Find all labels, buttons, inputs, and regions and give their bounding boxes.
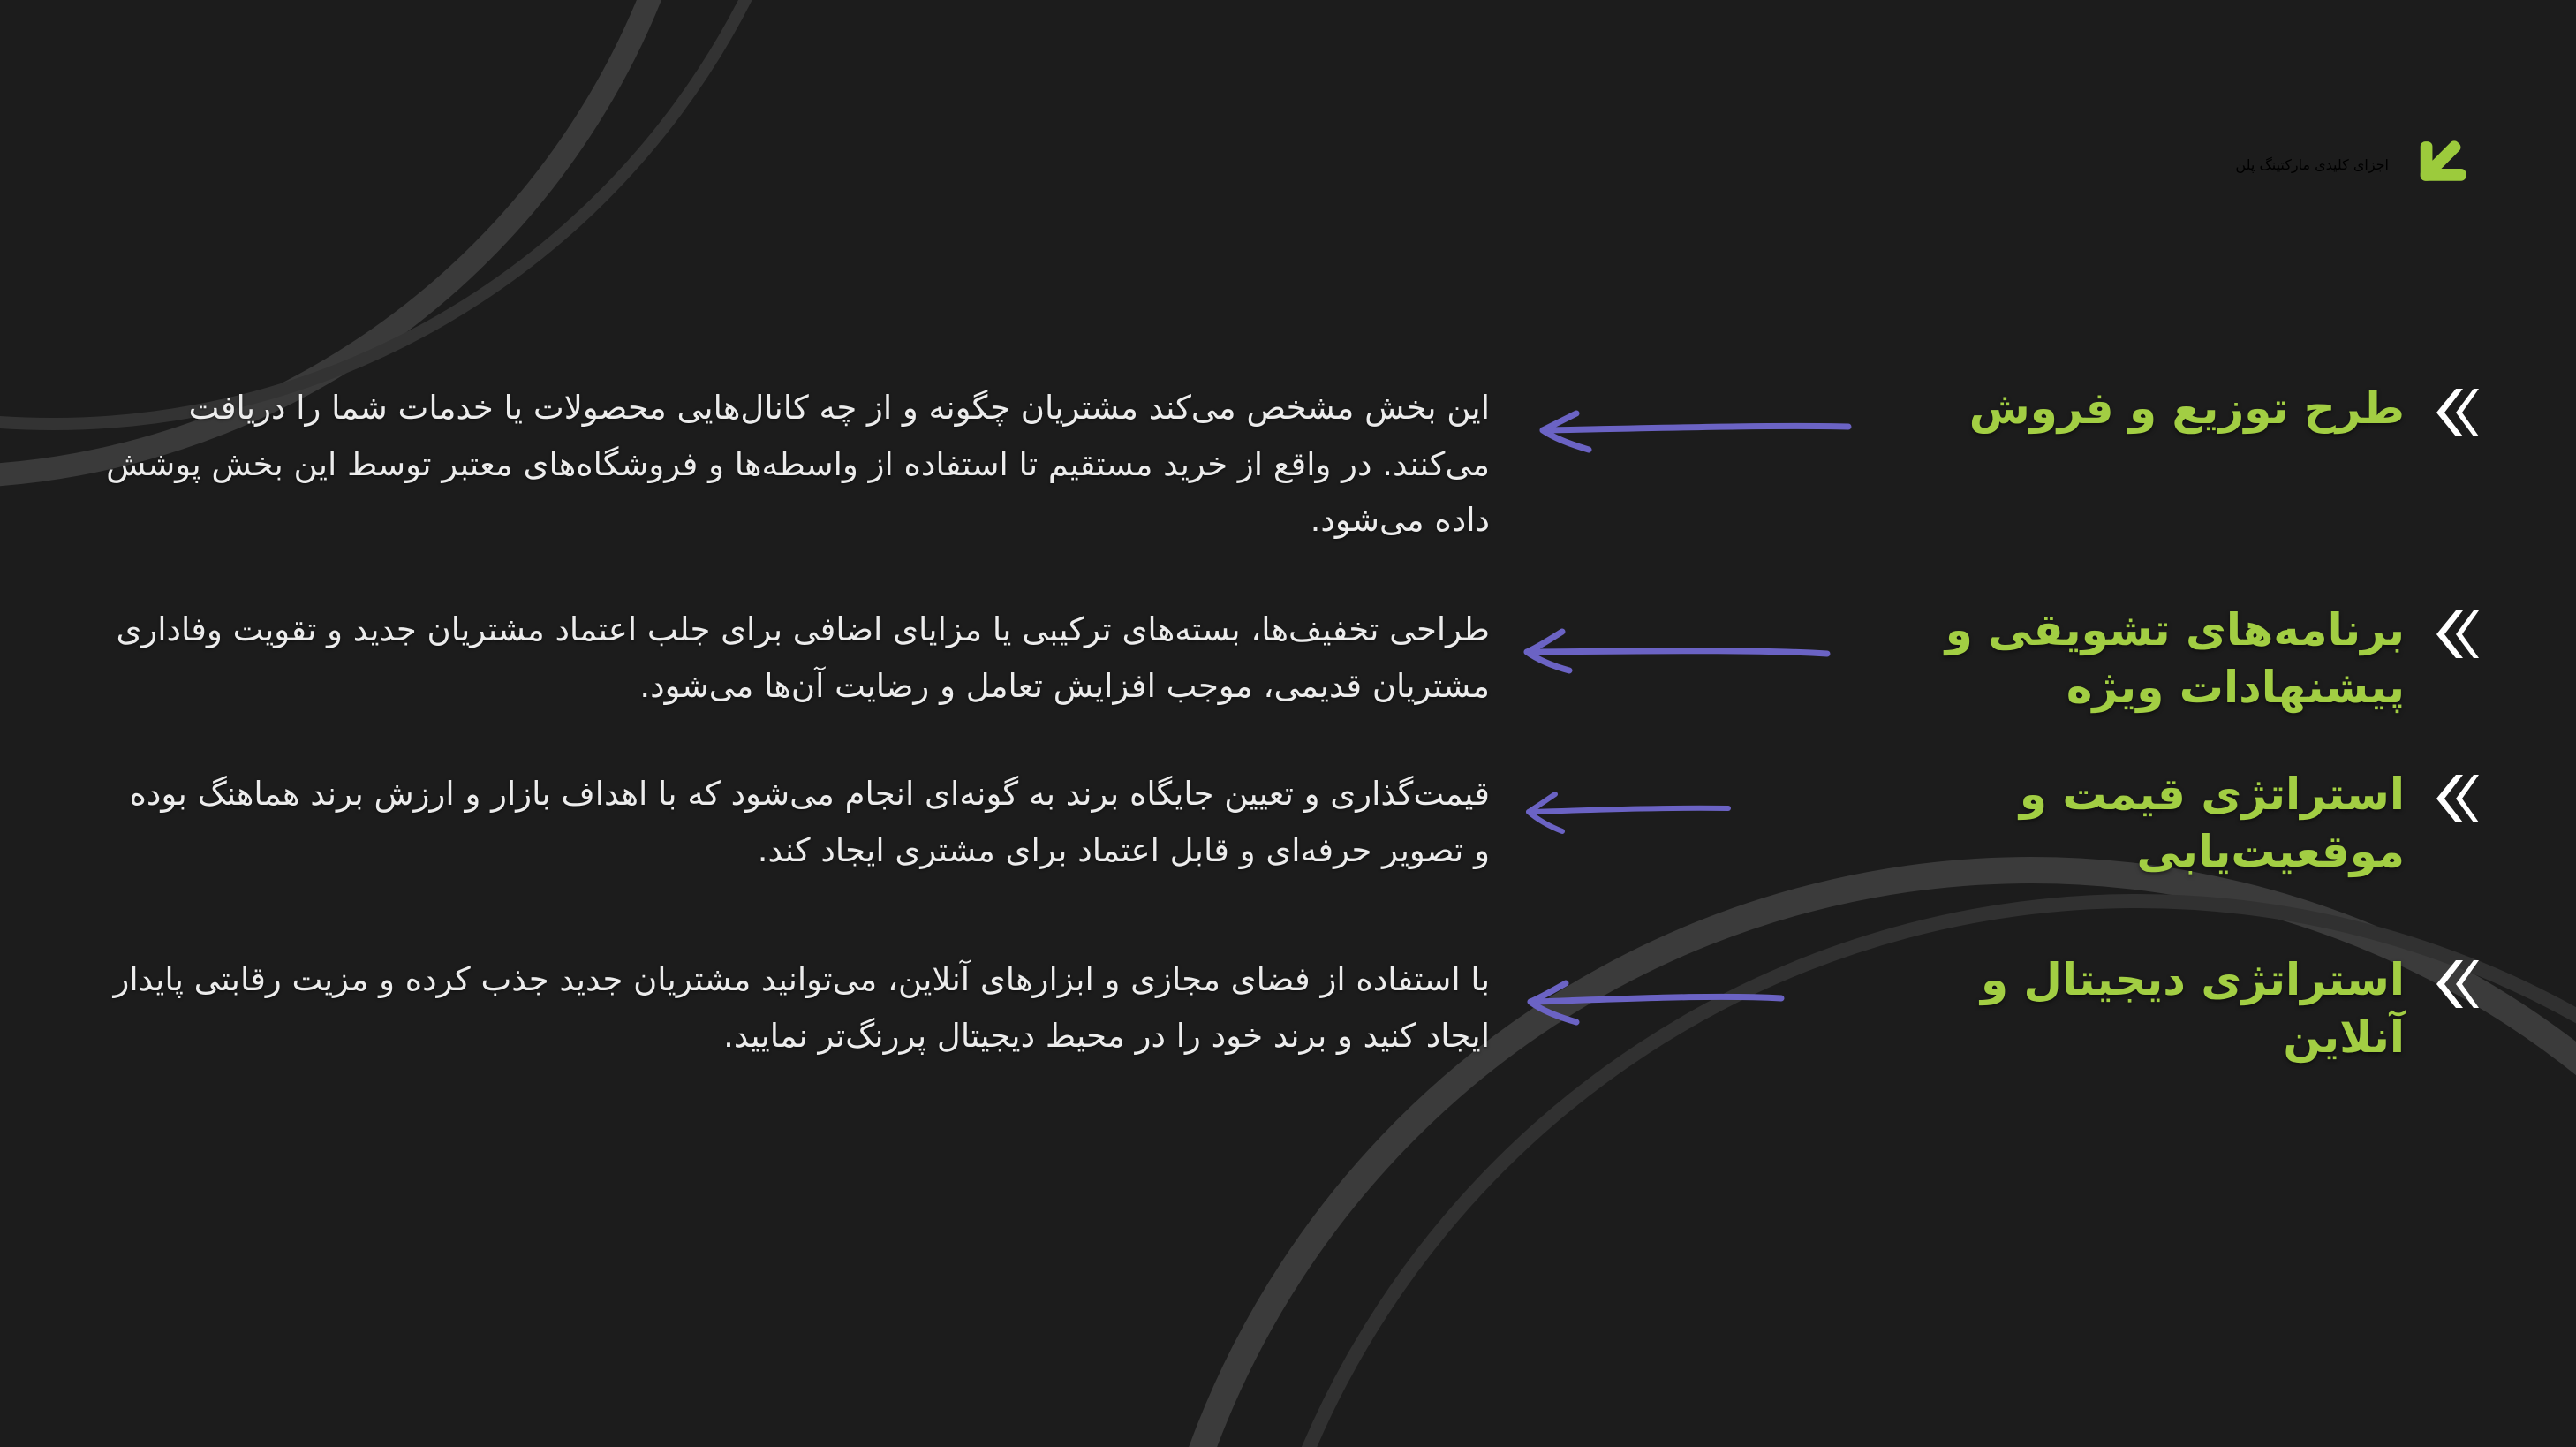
row-heading: استراتژی قیمت و موقعیت‌یابی	[1852, 766, 2405, 881]
row-body-block: طراحی تخفیف‌ها، بسته‌های ترکیبی یا مزایا…	[0, 602, 1499, 714]
row-body-text: با استفاده از فضای مجازی و ابزارهای آنلا…	[106, 951, 1490, 1064]
hand-drawn-arrow-left-icon	[1516, 625, 1852, 676]
row-connector	[1499, 951, 1852, 1026]
decor-arc-top-left-inner	[0, 0, 830, 424]
row-heading: استراتژی دیجیتال و آنلاین	[1852, 951, 2405, 1066]
double-chevron-left-icon	[2429, 385, 2479, 440]
content-row: طرح توزیع و فروش این بخش مشخص می‌کند مشت…	[0, 380, 2576, 549]
row-heading: برنامه‌های تشویقی و پیشنهادات ویژه	[1852, 602, 2405, 716]
page-title: اجزای کلیدی مارکتینگ پلن	[2235, 156, 2389, 173]
hand-drawn-arrow-left-icon	[1516, 403, 1852, 454]
row-body-block: این بخش مشخص می‌کند مشتریان چگونه و از چ…	[0, 380, 1499, 549]
row-body-block: با استفاده از فضای مجازی و ابزارهای آنلا…	[0, 951, 1499, 1064]
row-connector	[1499, 766, 1852, 840]
content-row: استراتژی دیجیتال و آنلاین با استفاده از …	[0, 951, 2576, 1066]
arrow-into-corner-icon	[2415, 133, 2479, 196]
page-header: اجزای کلیدی مارکتینگ پلن	[2235, 133, 2479, 196]
row-label-block[interactable]: استراتژی قیمت و موقعیت‌یابی	[1852, 766, 2576, 881]
row-connector	[1499, 380, 1852, 454]
content-row: استراتژی قیمت و موقعیت‌یابی قیمت‌گذاری و…	[0, 766, 2576, 881]
row-label-block[interactable]: طرح توزیع و فروش	[1852, 380, 2576, 440]
content-rows: طرح توزیع و فروش این بخش مشخص می‌کند مشت…	[0, 380, 2576, 1066]
double-chevron-left-icon	[2429, 957, 2479, 1011]
double-chevron-left-icon	[2429, 771, 2479, 826]
row-body-text: این بخش مشخص می‌کند مشتریان چگونه و از چ…	[106, 380, 1490, 549]
row-body-block: قیمت‌گذاری و تعیین جایگاه برند به گونه‌ا…	[0, 766, 1499, 878]
hand-drawn-arrow-left-icon	[1516, 789, 1852, 840]
row-label-block[interactable]: استراتژی دیجیتال و آنلاین	[1852, 951, 2576, 1066]
row-connector	[1499, 602, 1852, 676]
hand-drawn-arrow-left-icon	[1516, 974, 1852, 1026]
double-chevron-left-icon	[2429, 607, 2479, 662]
row-body-text: قیمت‌گذاری و تعیین جایگاه برند به گونه‌ا…	[106, 766, 1490, 878]
row-heading: طرح توزیع و فروش	[1969, 380, 2405, 437]
row-label-block[interactable]: برنامه‌های تشویقی و پیشنهادات ویژه	[1852, 602, 2576, 716]
content-row: برنامه‌های تشویقی و پیشنهادات ویژه طراحی…	[0, 602, 2576, 716]
row-body-text: طراحی تخفیف‌ها، بسته‌های ترکیبی یا مزایا…	[106, 602, 1490, 714]
